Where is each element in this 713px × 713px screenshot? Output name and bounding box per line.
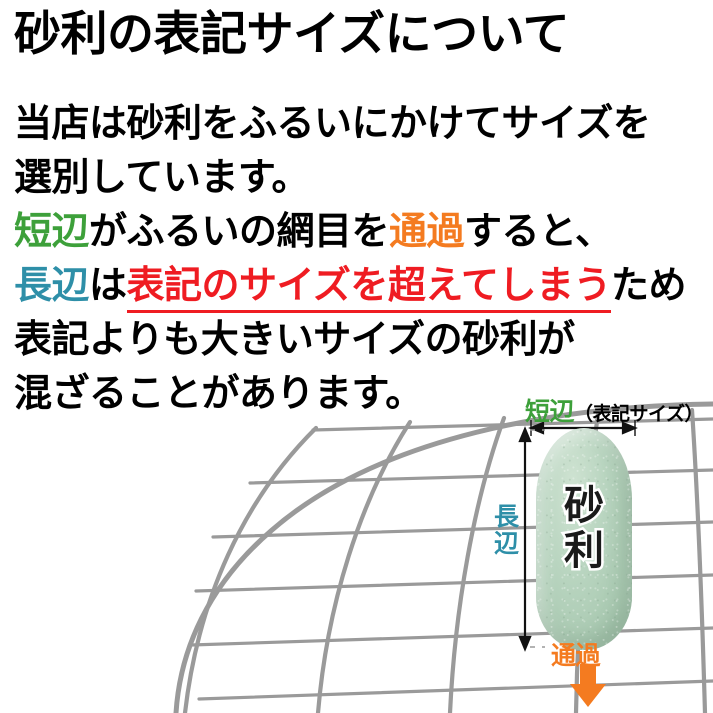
mesh-rim-curve — [176, 404, 713, 713]
short-side-label-text: 短辺 — [525, 397, 574, 426]
pass-through-label: 通過 — [551, 636, 600, 672]
infographic-page: 砂利の表記サイズについて 当店は砂利をふるいにかけてサイズを 選別しています。 … — [0, 0, 713, 713]
long-side-dimension-arrow — [520, 429, 530, 649]
stone-label-char-1: 砂 — [536, 484, 632, 529]
stone-label: 砂 利 — [536, 484, 632, 574]
short-side-label: 短辺（表記サイズ） — [525, 392, 703, 428]
long-side-label-char-2: 辺 — [494, 530, 519, 557]
gravel-stone: 砂 利 — [536, 428, 632, 650]
long-side-label: 長 辺 — [494, 503, 519, 557]
short-side-note: （表記サイズ） — [574, 403, 703, 425]
long-side-label-char-1: 長 — [494, 503, 519, 530]
stone-label-char-2: 利 — [536, 529, 632, 574]
